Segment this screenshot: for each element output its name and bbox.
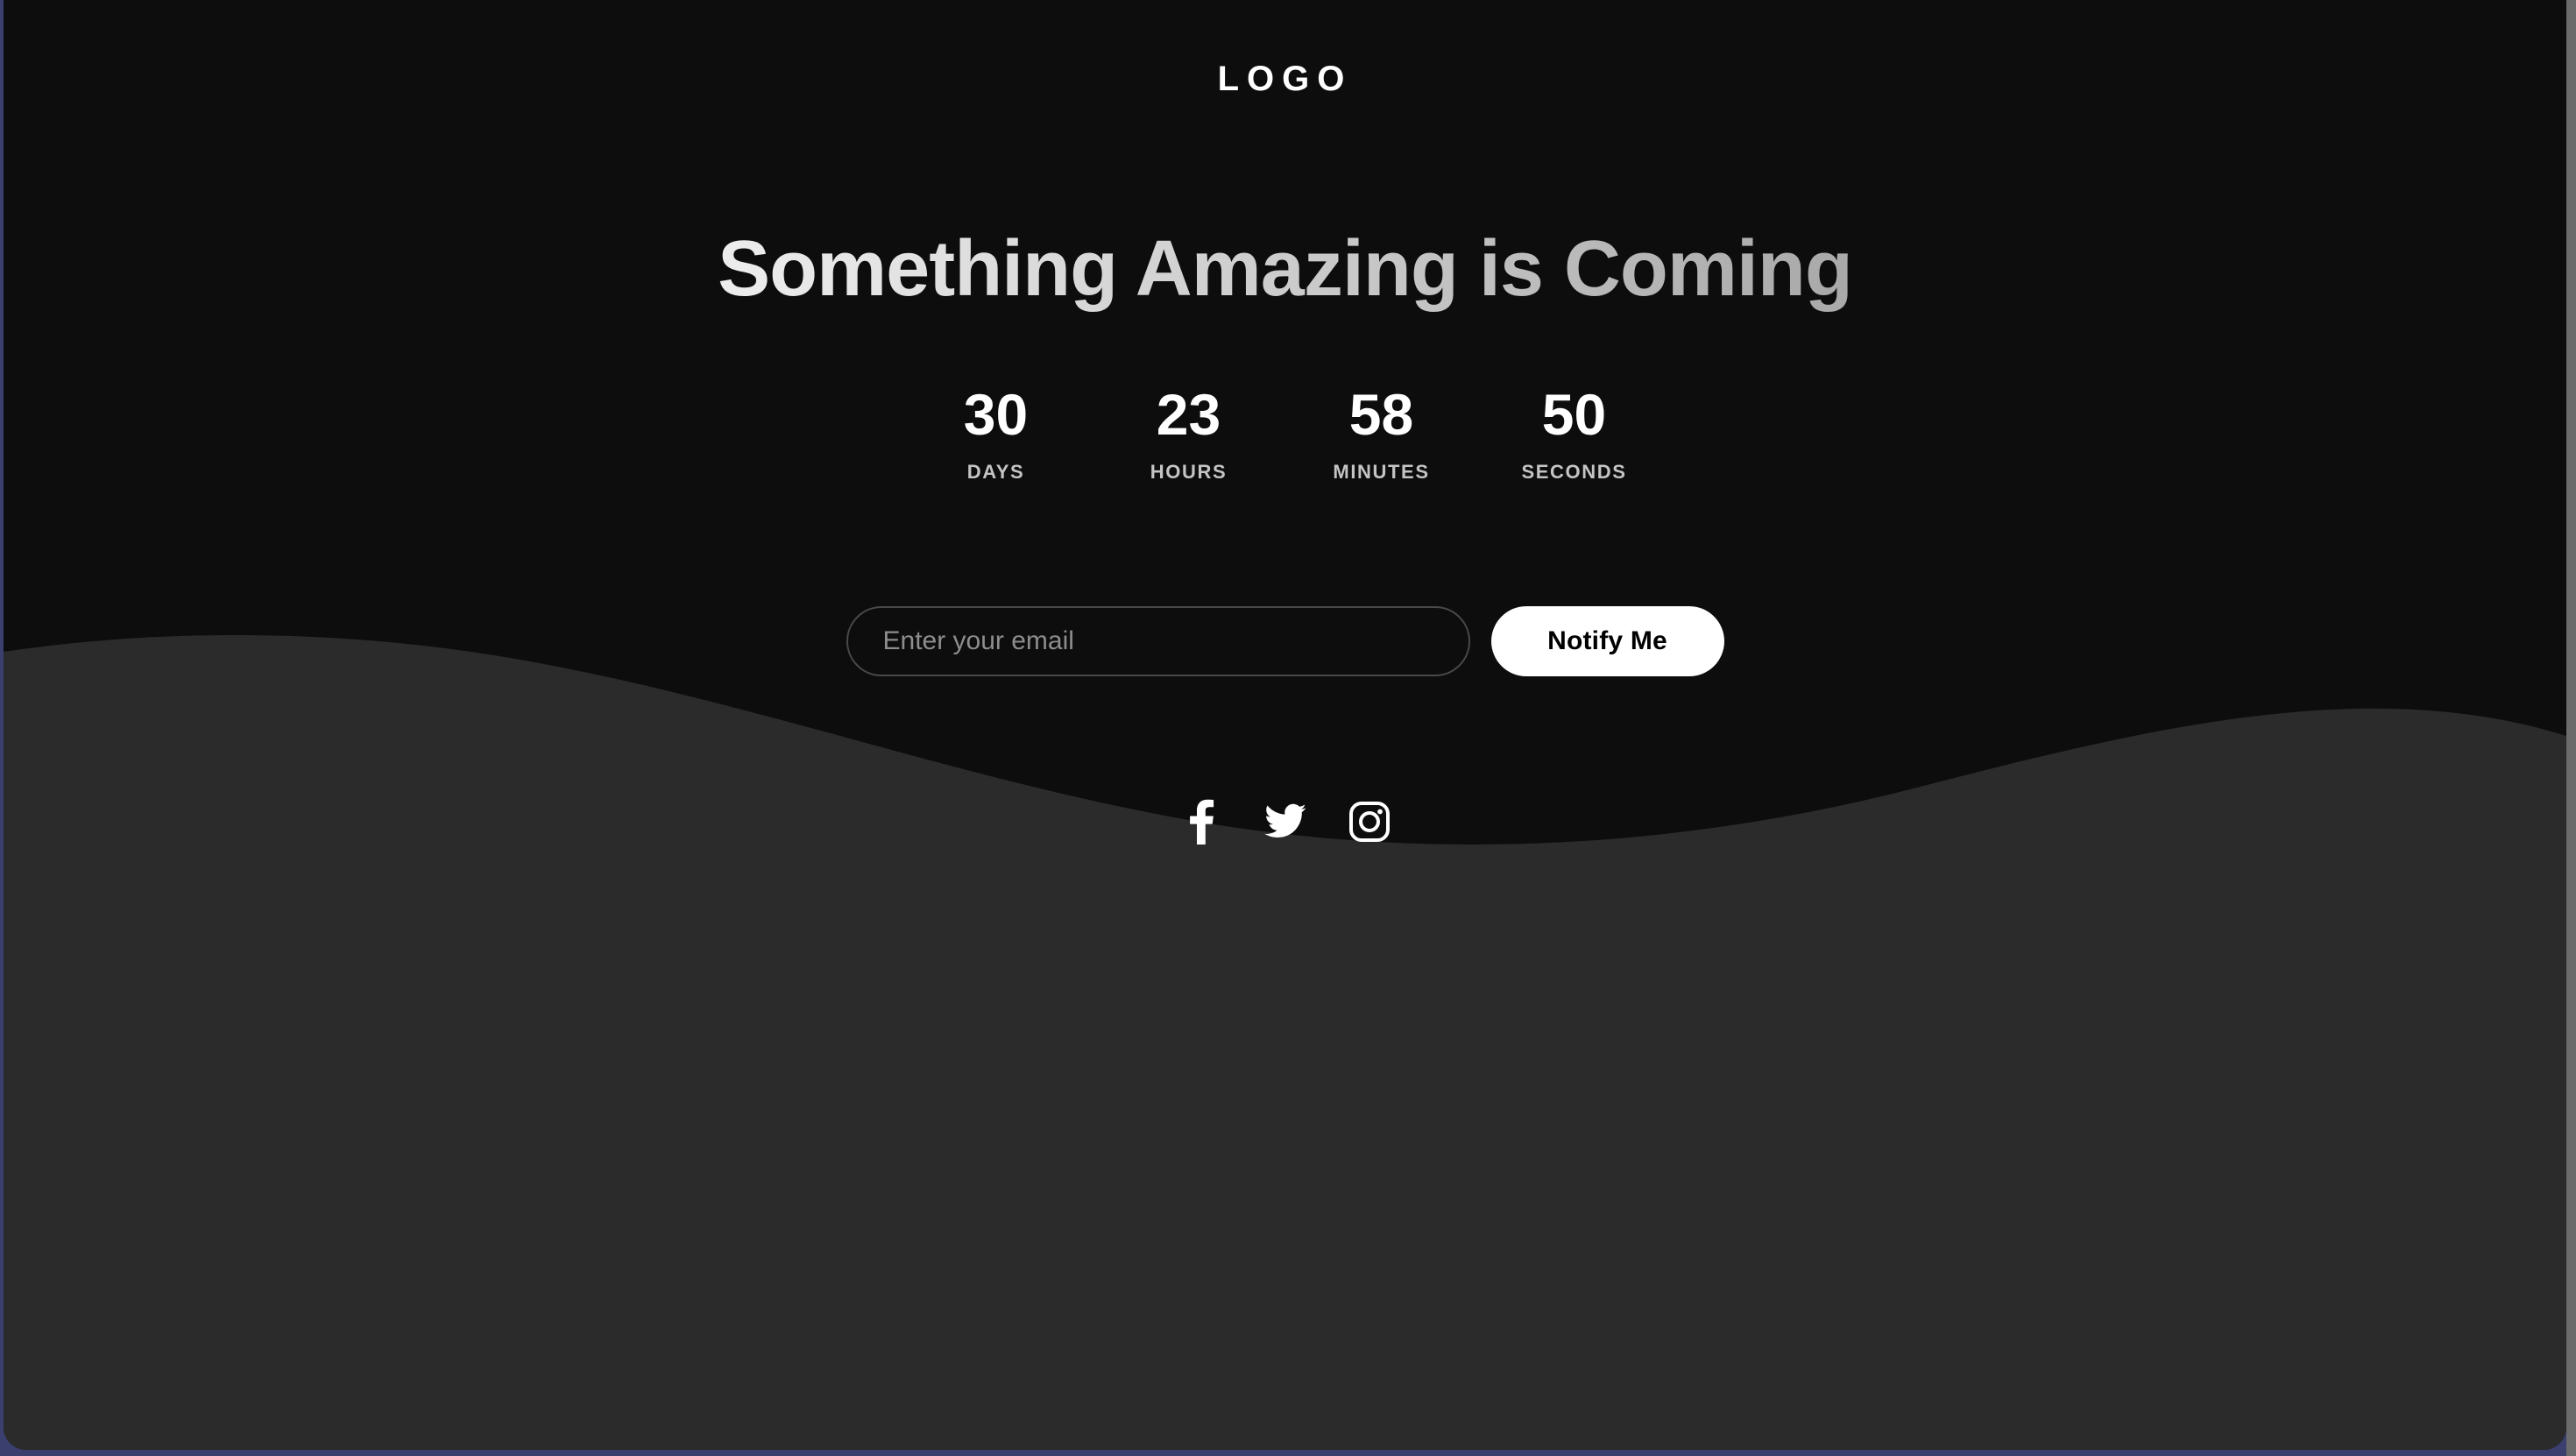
page-scrollbar[interactable] xyxy=(2566,0,2576,1456)
countdown-label-seconds: SECONDS xyxy=(1522,463,1627,482)
coming-soon-page: LOGO Something Amazing is Coming 30 DAYS… xyxy=(4,0,2566,1450)
facebook-icon xyxy=(1188,799,1214,845)
social-link-facebook[interactable] xyxy=(1177,797,1226,846)
browser-window-frame: LOGO Something Amazing is Coming 30 DAYS… xyxy=(0,0,2576,1456)
countdown-unit-days: 30 DAYS xyxy=(944,385,1049,482)
notify-me-button[interactable]: Notify Me xyxy=(1491,606,1724,676)
social-link-twitter[interactable] xyxy=(1261,797,1310,846)
page-content: LOGO Something Amazing is Coming 30 DAYS… xyxy=(4,0,2566,1450)
countdown-value-hours: 23 xyxy=(1136,385,1242,443)
social-link-instagram[interactable] xyxy=(1345,797,1394,846)
instagram-icon xyxy=(1348,801,1391,843)
countdown-label-days: DAYS xyxy=(944,463,1049,482)
countdown-value-seconds: 50 xyxy=(1522,385,1627,443)
email-input[interactable] xyxy=(846,606,1470,676)
countdown-unit-seconds: 50 SECONDS xyxy=(1522,385,1627,482)
countdown-unit-hours: 23 HOURS xyxy=(1136,385,1242,482)
email-signup-form: Notify Me xyxy=(4,606,2566,676)
page-title: Something Amazing is Coming xyxy=(4,226,2566,313)
countdown-unit-minutes: 58 MINUTES xyxy=(1329,385,1434,482)
countdown-value-days: 30 xyxy=(944,385,1049,443)
browser-viewport: LOGO Something Amazing is Coming 30 DAYS… xyxy=(4,0,2566,1450)
countdown-timer: 30 DAYS 23 HOURS 58 MINUTES 50 SECONDS xyxy=(4,385,2566,482)
social-links xyxy=(4,797,2566,846)
twitter-icon xyxy=(1264,803,1306,840)
countdown-value-minutes: 58 xyxy=(1329,385,1434,443)
countdown-label-hours: HOURS xyxy=(1136,463,1242,482)
countdown-label-minutes: MINUTES xyxy=(1329,463,1434,482)
brand-logo: LOGO xyxy=(4,61,2566,96)
